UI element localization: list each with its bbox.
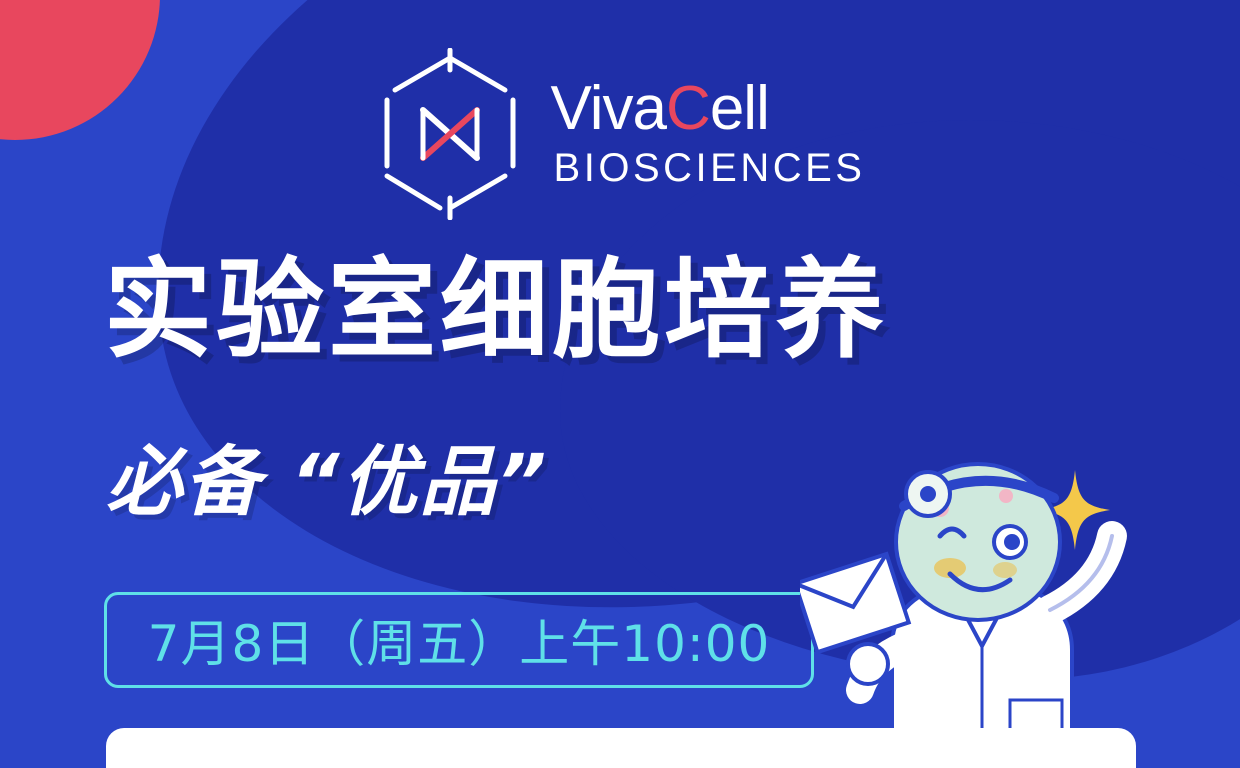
headline-text: 实验室细胞培养 — [104, 252, 888, 371]
bottom-white-card — [106, 728, 1136, 768]
brand-name: VivaCell — [551, 78, 866, 140]
datetime-badge: 7月8日（周五）上午10:00 — [104, 592, 814, 688]
subheadline-text: 必备 “优品” — [106, 440, 548, 524]
doctor-cell-mascot-icon — [800, 450, 1160, 768]
brand-name-v: V — [551, 74, 590, 143]
brand-logo: VivaCell BIOSCIENCES — [0, 48, 1240, 220]
datetime-text: 7月8日（周五）上午10:00 — [148, 604, 771, 676]
brand-name-iva: iva — [590, 74, 666, 143]
brand-name-ell: ell — [710, 74, 769, 143]
brand-subtitle: BIOSCIENCES — [554, 146, 866, 191]
hexagon-x-icon — [375, 48, 525, 220]
poster-canvas: VivaCell BIOSCIENCES 实验室细胞培养 必备 “优品” 7月8… — [0, 0, 1240, 768]
brand-wordmark: VivaCell BIOSCIENCES — [551, 78, 866, 191]
brand-name-c: C — [666, 74, 710, 143]
